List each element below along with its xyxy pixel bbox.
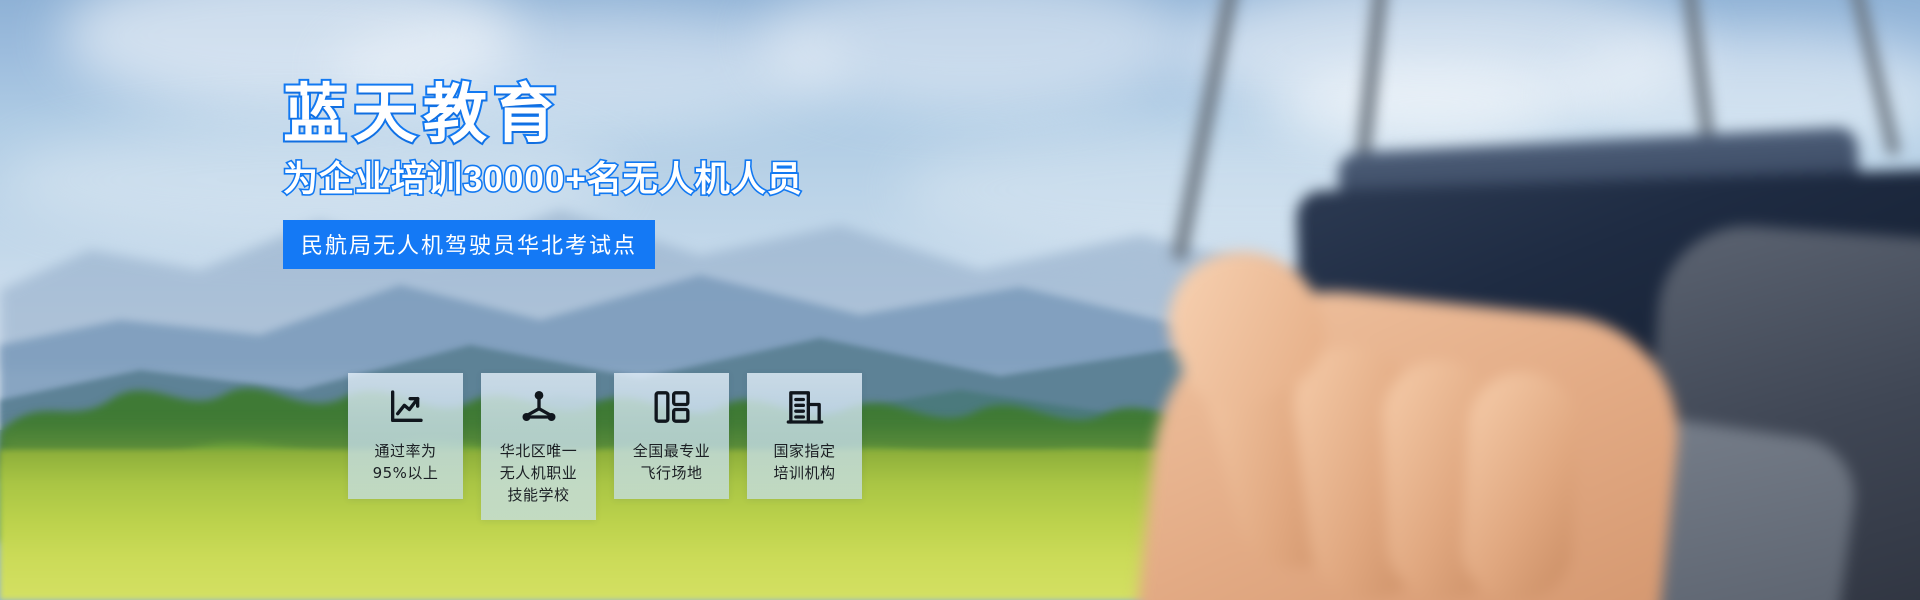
layout-panels-icon <box>652 387 692 427</box>
network-nodes-icon <box>519 387 559 427</box>
feature-card-only-school[interactable]: 华北区唯一 无人机职业 技能学校 <box>481 373 596 520</box>
certification-badge: 民航局无人机驾驶员华北考试点 <box>283 220 655 269</box>
building-institution-icon <box>785 387 825 427</box>
hero-banner: 蓝天教育 为企业培训30000+名无人机人员 民航局无人机驾驶员华北考试点 通过… <box>0 0 1920 600</box>
feature-card-label: 通过率为 95%以上 <box>373 441 439 485</box>
banner-content: 蓝天教育 为企业培训30000+名无人机人员 民航局无人机驾驶员华北考试点 通过… <box>0 0 1920 600</box>
banner-title: 蓝天教育 <box>283 82 563 146</box>
feature-card-label: 国家指定 培训机构 <box>773 441 835 485</box>
banner-subtitle: 为企业培训30000+名无人机人员 <box>283 162 803 197</box>
feature-card-flight-field[interactable]: 全国最专业 飞行场地 <box>614 373 729 499</box>
feature-card-pass-rate[interactable]: 通过率为 95%以上 <box>348 373 463 499</box>
trending-up-chart-icon <box>386 387 426 427</box>
feature-card-national-institution[interactable]: 国家指定 培训机构 <box>747 373 862 499</box>
feature-card-label: 华北区唯一 无人机职业 技能学校 <box>500 441 578 506</box>
feature-card-label: 全国最专业 飞行场地 <box>633 441 711 485</box>
feature-cards: 通过率为 95%以上 华北区唯一 无人机职业 技能学校 <box>348 373 862 520</box>
